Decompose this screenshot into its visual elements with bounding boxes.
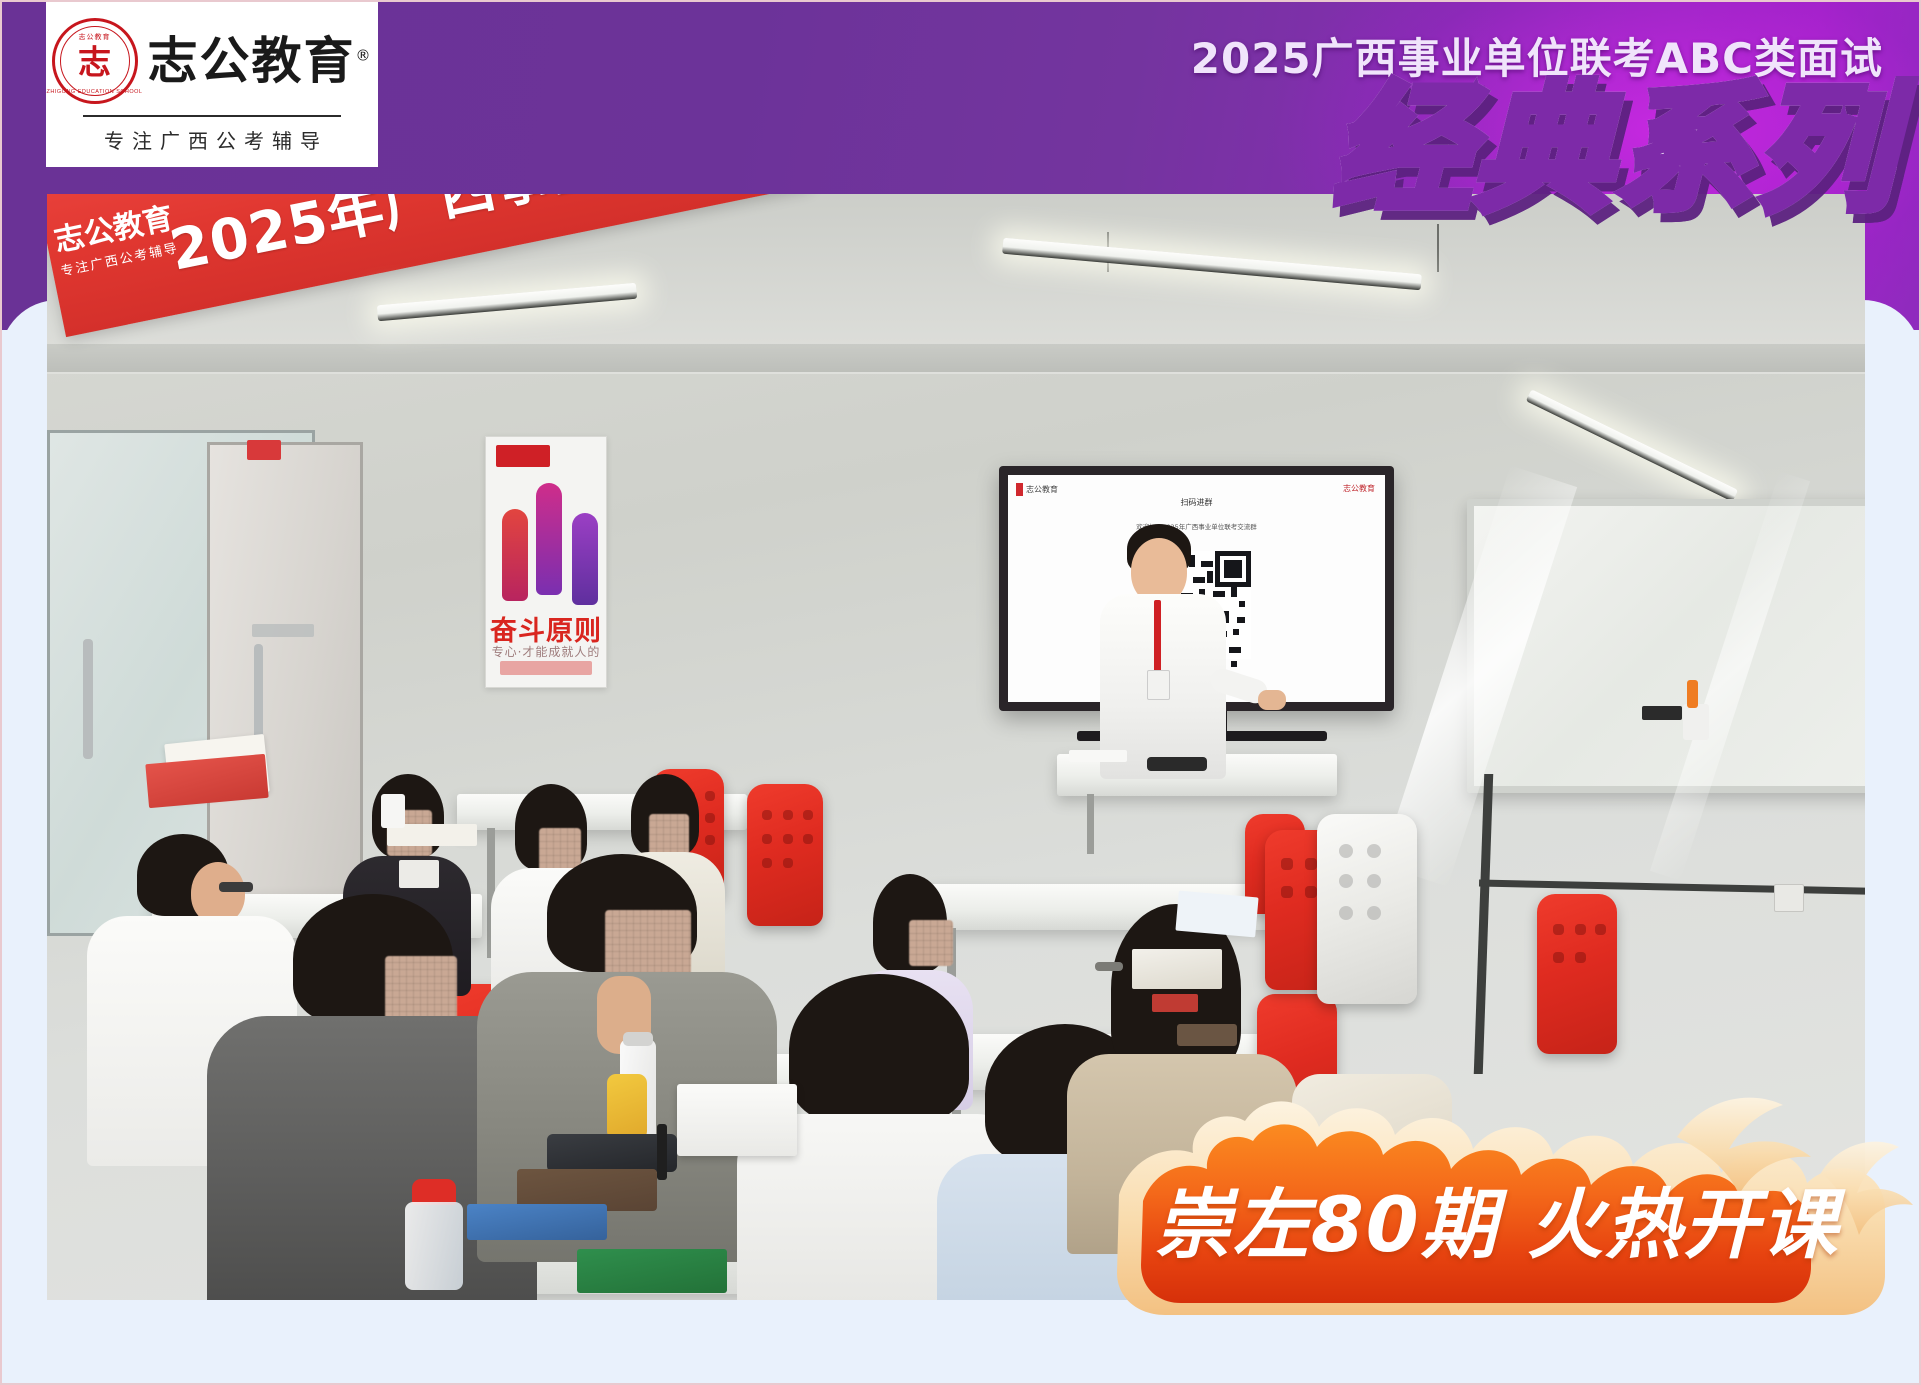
desk-paper-right bbox=[1175, 891, 1258, 938]
person-instructor bbox=[1092, 524, 1242, 824]
chair-hole bbox=[762, 810, 772, 820]
header-title: 经典系列 bbox=[1333, 74, 1897, 227]
chair-hole bbox=[1595, 924, 1606, 935]
chair-hole bbox=[783, 858, 793, 868]
chair-hole bbox=[783, 810, 793, 820]
chair-hole bbox=[1367, 844, 1381, 858]
podium-item bbox=[1147, 757, 1207, 771]
chair-hole bbox=[1305, 886, 1317, 898]
book-stack bbox=[677, 1084, 797, 1156]
registered-mark-icon: ® bbox=[356, 46, 373, 64]
chair-hole bbox=[1281, 886, 1293, 898]
instructor-hand bbox=[1258, 690, 1286, 710]
student-3-face-blur bbox=[649, 814, 689, 856]
bottle-cap bbox=[623, 1032, 653, 1046]
student-5-glasses bbox=[219, 882, 253, 892]
promo-poster: 志公教育 专注广西公考辅导 2025年广西事业单位联考 奋斗原则 专心· bbox=[0, 0, 1921, 1385]
pen-black bbox=[657, 1124, 667, 1180]
chair-hole bbox=[762, 834, 772, 844]
student-10-glasses bbox=[1095, 962, 1123, 971]
chair-hole bbox=[1305, 858, 1317, 870]
chair-back bbox=[1537, 894, 1617, 1054]
seal-char: 志 bbox=[78, 46, 111, 79]
seal-top-text: 志公教育 bbox=[79, 32, 111, 42]
promo-badge-text: 崇左80期 火热开课 bbox=[1077, 1163, 1917, 1273]
promo-badge: 崇左80期 火热开课 bbox=[1077, 1077, 1917, 1327]
door-label bbox=[252, 624, 314, 637]
chair-hole bbox=[803, 834, 813, 844]
screen-logo-text: 志公教育 bbox=[1026, 484, 1058, 495]
poster-figure-1 bbox=[502, 509, 528, 601]
chair-hole bbox=[783, 834, 793, 844]
desk-cup bbox=[381, 794, 405, 828]
whiteboard bbox=[1467, 499, 1865, 793]
chair-hole bbox=[1575, 952, 1586, 963]
poster-footer-bar bbox=[500, 661, 592, 675]
brand-logo-plate: 志公教育 志 ZHIGONG EDUCATION SCHOOL 志公教育® 专注… bbox=[46, 0, 378, 167]
chair-hole bbox=[1367, 906, 1381, 920]
banner-brand: 志公教育 专注广西公考辅导 bbox=[52, 202, 181, 280]
flower-decor bbox=[607, 1074, 647, 1140]
marker-orange bbox=[1687, 680, 1698, 708]
eraser bbox=[1642, 706, 1682, 720]
chair-hole bbox=[1339, 874, 1353, 888]
wall-poster: 奋斗原则 专心·才能成就人的未来 bbox=[485, 436, 607, 688]
wall-outlet bbox=[1774, 884, 1804, 912]
chair-back bbox=[1317, 814, 1417, 1004]
exit-sign bbox=[247, 440, 281, 460]
chair-hole bbox=[1339, 844, 1353, 858]
seal-bottom-text: ZHIGONG EDUCATION SCHOOL bbox=[47, 89, 143, 95]
poster-badge bbox=[496, 445, 550, 467]
screen-headline: 扫码进群 bbox=[1008, 497, 1385, 508]
brand-name-text: 志公教育 bbox=[148, 32, 356, 90]
chair-hole bbox=[803, 810, 813, 820]
instructor-badge bbox=[1147, 670, 1170, 700]
chair-hole bbox=[1553, 952, 1564, 963]
green-folder bbox=[577, 1249, 727, 1293]
brand-logo-row: 志公教育 志 ZHIGONG EDUCATION SCHOOL 志公教育® bbox=[52, 18, 373, 104]
chair-hole bbox=[1575, 924, 1586, 935]
marker-tray-item bbox=[1683, 704, 1709, 740]
screen-logo: 志公教育 bbox=[1016, 483, 1058, 496]
brand-divider bbox=[83, 115, 341, 117]
desk-marker bbox=[1177, 1024, 1237, 1046]
chair-hole bbox=[1553, 924, 1564, 935]
screen-brand: 志公教育 bbox=[1343, 483, 1375, 494]
chair-red-8 bbox=[1537, 894, 1617, 1054]
blue-notebook bbox=[467, 1204, 607, 1240]
chair-hole bbox=[1367, 874, 1381, 888]
podium-paper bbox=[1069, 750, 1127, 762]
chair-white-1 bbox=[1317, 814, 1417, 1004]
poster-figures bbox=[492, 477, 600, 597]
brand-name: 志公教育® bbox=[148, 36, 373, 86]
poster-figure-3 bbox=[572, 513, 598, 605]
desk-small-item bbox=[1152, 994, 1198, 1012]
chair-hole bbox=[1281, 858, 1293, 870]
chair-hole bbox=[1339, 906, 1353, 920]
screen-logo-mark bbox=[1016, 483, 1023, 496]
light-cord-2 bbox=[1437, 224, 1439, 272]
desk-tissue-box bbox=[399, 860, 439, 888]
ceiling-beam bbox=[47, 344, 1865, 372]
student-4-face-blur bbox=[909, 920, 953, 966]
poster-figure-2 bbox=[536, 483, 562, 595]
door-handle bbox=[83, 639, 93, 759]
clear-bottle bbox=[405, 1202, 463, 1290]
brand-seal-icon: 志公教育 志 ZHIGONG EDUCATION SCHOOL bbox=[52, 18, 138, 104]
brand-tagline: 专注广西公考辅导 bbox=[96, 125, 328, 154]
desk-book-right bbox=[1132, 949, 1222, 989]
instructor-lanyard bbox=[1154, 600, 1161, 672]
